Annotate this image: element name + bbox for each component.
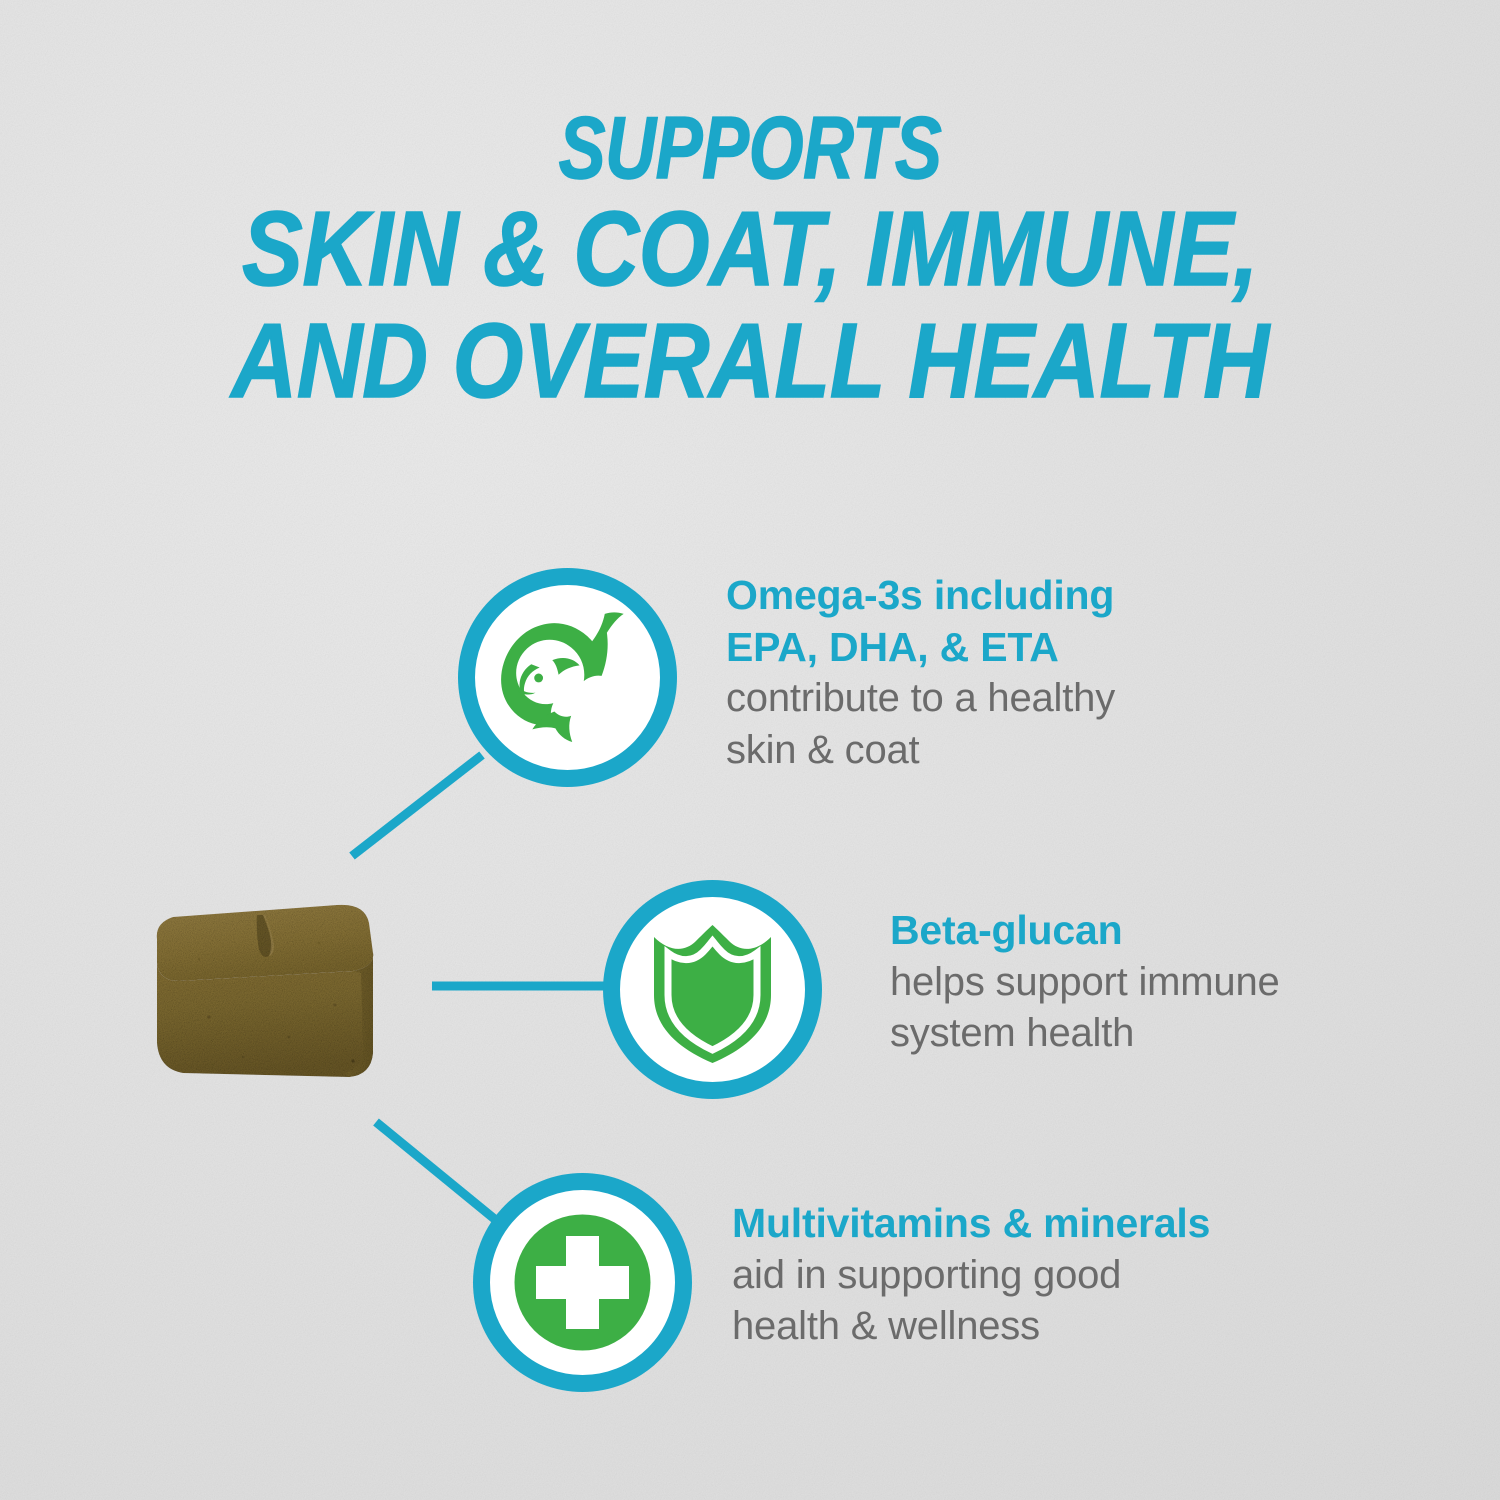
headline-line-3: AND OVERALL HEALTH bbox=[105, 308, 1395, 414]
feature-multivitamins-title-line1: Multivitamins & minerals bbox=[732, 1198, 1352, 1250]
fish-icon bbox=[455, 565, 680, 790]
medical-cross-icon bbox=[470, 1170, 695, 1395]
feature-betaglucan-text: Beta-glucan helps support immune system … bbox=[890, 905, 1480, 1059]
feature-omega-title-line1: Omega-3s including bbox=[726, 570, 1286, 622]
feature-omega-body-line1: contribute to a healthy bbox=[726, 673, 1286, 724]
feature-multivitamins-body-line1: aid in supporting good bbox=[732, 1250, 1352, 1301]
feature-omega-text: Omega-3s including EPA, DHA, & ETA contr… bbox=[726, 570, 1286, 776]
shield-icon bbox=[600, 877, 825, 1102]
feature-omega-body-line2: skin & coat bbox=[726, 725, 1286, 776]
feature-betaglucan-body-line1: helps support immune bbox=[890, 957, 1480, 1008]
feature-betaglucan-body-line2: system health bbox=[890, 1008, 1480, 1059]
feature-omega-title-line2: EPA, DHA, & ETA bbox=[726, 622, 1286, 674]
product-chew-image bbox=[139, 897, 387, 1088]
feature-betaglucan-title-line1: Beta-glucan bbox=[890, 905, 1480, 957]
infographic-panel: SUPPORTS SKIN & COAT, IMMUNE, AND OVERAL… bbox=[0, 0, 1500, 1500]
headline-line-2: SKIN & COAT, IMMUNE, bbox=[105, 196, 1395, 302]
fish-eye bbox=[534, 674, 543, 683]
fish-icon-ring bbox=[467, 577, 669, 779]
headline-line-1: SUPPORTS bbox=[150, 104, 1350, 192]
headline: SUPPORTS SKIN & COAT, IMMUNE, AND OVERAL… bbox=[0, 104, 1500, 414]
feature-multivitamins-text: Multivitamins & minerals aid in supporti… bbox=[732, 1198, 1352, 1352]
feature-multivitamins-body-line2: health & wellness bbox=[732, 1301, 1352, 1352]
